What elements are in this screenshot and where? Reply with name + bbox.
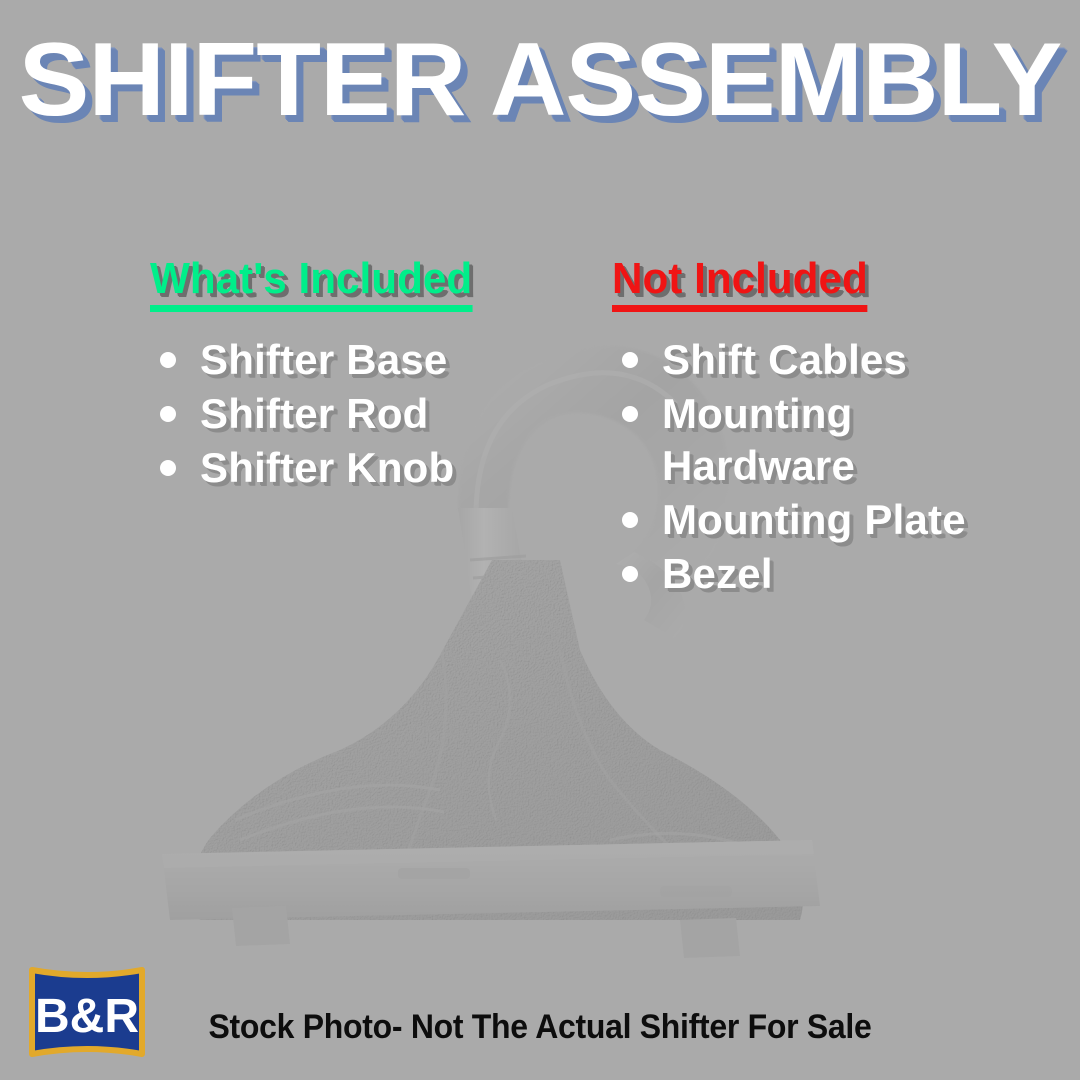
list-item-label: Shifter Knob	[200, 442, 454, 494]
page-title: SHIFTER ASSEMBLY	[0, 28, 1080, 132]
bullet-dot-icon	[160, 460, 176, 476]
list-item-label: Shifter Rod	[200, 388, 429, 440]
stock-photo-disclaimer: Stock Photo- Not The Actual Shifter For …	[32, 1008, 1047, 1046]
list-item-label: Bezel	[662, 548, 773, 600]
poster-canvas: SHIFTER ASSEMBLY What's Included Shifter…	[0, 0, 1080, 1080]
bullet-dot-icon	[622, 566, 638, 582]
bullet-dot-icon	[622, 512, 638, 528]
list-item: Shifter Knob	[150, 442, 580, 494]
not-included-list: Shift Cables Mounting Hardware Mounting …	[612, 334, 1012, 600]
list-item-label: Shifter Base	[200, 334, 448, 386]
list-item-label: Mounting Plate	[662, 494, 966, 546]
bullet-dot-icon	[160, 352, 176, 368]
bullet-dot-icon	[622, 406, 638, 422]
bullet-dot-icon	[160, 406, 176, 422]
bullet-dot-icon	[622, 352, 638, 368]
shifter-boot-shape	[180, 550, 820, 930]
list-item: Mounting Hardware	[612, 388, 1012, 492]
list-item: Shifter Rod	[150, 388, 580, 440]
included-heading: What's Included	[150, 256, 472, 312]
list-item: Shifter Base	[150, 334, 580, 386]
list-item: Bezel	[612, 548, 1012, 600]
shifter-base-plate-shape	[162, 840, 820, 958]
not-included-heading: Not Included	[612, 256, 868, 312]
included-column: What's Included Shifter Base Shifter Rod…	[150, 256, 580, 496]
list-item: Shift Cables	[612, 334, 1012, 386]
not-included-column: Not Included Shift Cables Mounting Hardw…	[612, 256, 1012, 602]
list-item-label: Mounting Hardware	[662, 388, 1012, 492]
included-list: Shifter Base Shifter Rod Shifter Knob	[150, 334, 580, 494]
list-item-label: Shift Cables	[662, 334, 907, 386]
list-item: Mounting Plate	[612, 494, 1012, 546]
shifter-rod-shape	[458, 508, 542, 658]
